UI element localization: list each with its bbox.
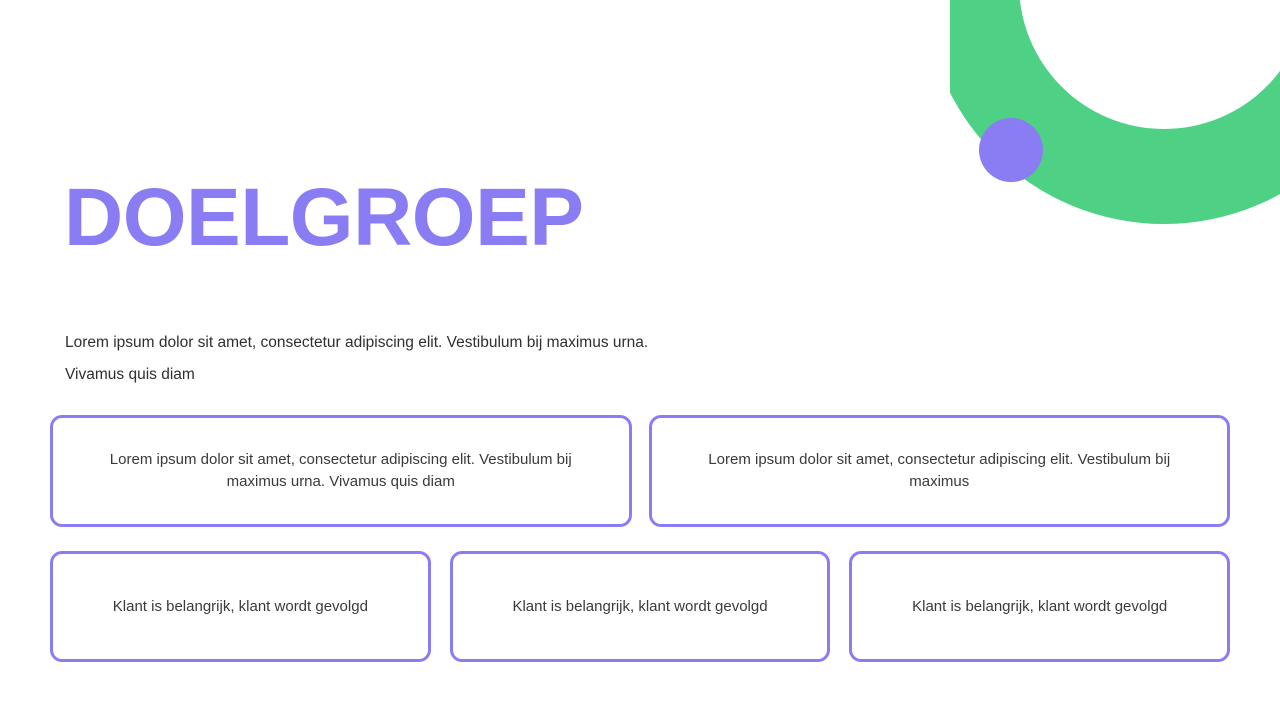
card-bottom-2[interactable]: Klant is belangrijk, klant wordt gevolgd (450, 551, 831, 662)
card-bottom-3-text: Klant is belangrijk, klant wordt gevolgd (912, 596, 1167, 618)
card-row-top: Lorem ipsum dolor sit amet, consectetur … (50, 415, 1230, 527)
page-title: DOELGROEP (64, 177, 583, 259)
slide-canvas: DOELGROEP Lorem ipsum dolor sit amet, co… (0, 0, 1280, 720)
card-top-1[interactable]: Lorem ipsum dolor sit amet, consectetur … (50, 415, 632, 527)
card-top-1-text: Lorem ipsum dolor sit amet, consectetur … (79, 449, 603, 493)
green-ring-icon (950, 0, 1280, 290)
purple-circle-icon (979, 118, 1043, 182)
card-bottom-1[interactable]: Klant is belangrijk, klant wordt gevolgd (50, 551, 431, 662)
card-top-2[interactable]: Lorem ipsum dolor sit amet, consectetur … (649, 415, 1231, 527)
card-top-2-text: Lorem ipsum dolor sit amet, consectetur … (678, 449, 1202, 493)
slide-subtitle: Lorem ipsum dolor sit amet, consectetur … (65, 327, 665, 391)
decorative-shapes (950, 0, 1280, 290)
card-row-bottom: Klant is belangrijk, klant wordt gevolgd… (50, 551, 1230, 662)
card-bottom-2-text: Klant is belangrijk, klant wordt gevolgd (512, 596, 767, 618)
card-bottom-1-text: Klant is belangrijk, klant wordt gevolgd (113, 596, 368, 618)
card-bottom-3[interactable]: Klant is belangrijk, klant wordt gevolgd (849, 551, 1230, 662)
